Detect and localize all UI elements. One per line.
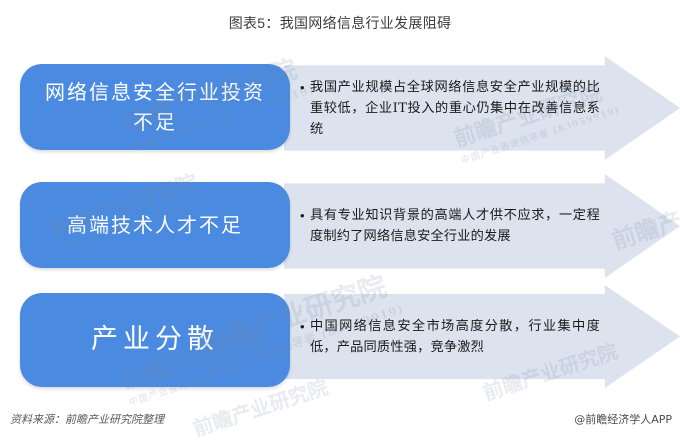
row-detail-text: 具有专业知识背景的高端人才供不应求，一定程度制约了网络信息安全行业的发展 bbox=[310, 205, 600, 247]
arrow-text-container: • 具有专业知识背景的高端人才供不应求，一定程度制约了网络信息安全行业的发展 bbox=[300, 174, 600, 278]
row-label-box[interactable]: 产业分散 bbox=[20, 293, 290, 387]
bullet-row: • 我国产业规模占全球网络信息安全产业规模的比重较低，企业IT投入的重心仍集中在… bbox=[300, 77, 600, 140]
row-label-box[interactable]: 高端技术人才不足 bbox=[20, 182, 290, 268]
bullet-dot-icon: • bbox=[300, 316, 310, 337]
bullet-row: • 具有专业知识背景的高端人才供不应求，一定程度制约了网络信息安全行业的发展 bbox=[300, 205, 600, 247]
diagram-row: • 中国网络信息安全市场高度分散，行业集中度低，产品同质性强，竞争激烈 产业分散 bbox=[0, 285, 680, 397]
row-label-text: 高端技术人才不足 bbox=[67, 210, 243, 240]
row-label-text: 网络信息安全行业投资不足 bbox=[42, 77, 268, 137]
footer: 资料来源：前瞻产业研究院整理 @前瞻经济学人APP bbox=[0, 411, 680, 427]
brand-credit: @前瞻经济学人APP bbox=[574, 411, 672, 427]
row-detail-text: 我国产业规模占全球网络信息安全产业规模的比重较低，企业IT投入的重心仍集中在改善… bbox=[310, 77, 600, 140]
source-note: 资料来源：前瞻产业研究院整理 bbox=[10, 411, 164, 427]
bullet-dot-icon: • bbox=[300, 205, 310, 226]
diagram-row: • 具有专业知识背景的高端人才供不应求，一定程度制约了网络信息安全行业的发展 高… bbox=[0, 174, 680, 278]
diagram-row: • 我国产业规模占全球网络信息安全产业规模的比重较低，企业IT投入的重心仍集中在… bbox=[0, 56, 680, 160]
bullet-row: • 中国网络信息安全市场高度分散，行业集中度低，产品同质性强，竞争激烈 bbox=[300, 316, 600, 358]
page-title: 图表5：我国网络信息行业发展阻碍 bbox=[0, 13, 680, 33]
diagram-body: • 我国产业规模占全球网络信息安全产业规模的比重较低，企业IT投入的重心仍集中在… bbox=[0, 50, 680, 405]
row-detail-text: 中国网络信息安全市场高度分散，行业集中度低，产品同质性强，竞争激烈 bbox=[310, 316, 600, 358]
arrow-text-container: • 中国网络信息安全市场高度分散，行业集中度低，产品同质性强，竞争激烈 bbox=[300, 285, 600, 388]
row-label-text: 产业分散 bbox=[91, 325, 219, 355]
bullet-dot-icon: • bbox=[300, 77, 310, 98]
row-label-box[interactable]: 网络信息安全行业投资不足 bbox=[20, 64, 290, 150]
arrow-text-container: • 我国产业规模占全球网络信息安全产业规模的比重较低，企业IT投入的重心仍集中在… bbox=[300, 56, 600, 160]
